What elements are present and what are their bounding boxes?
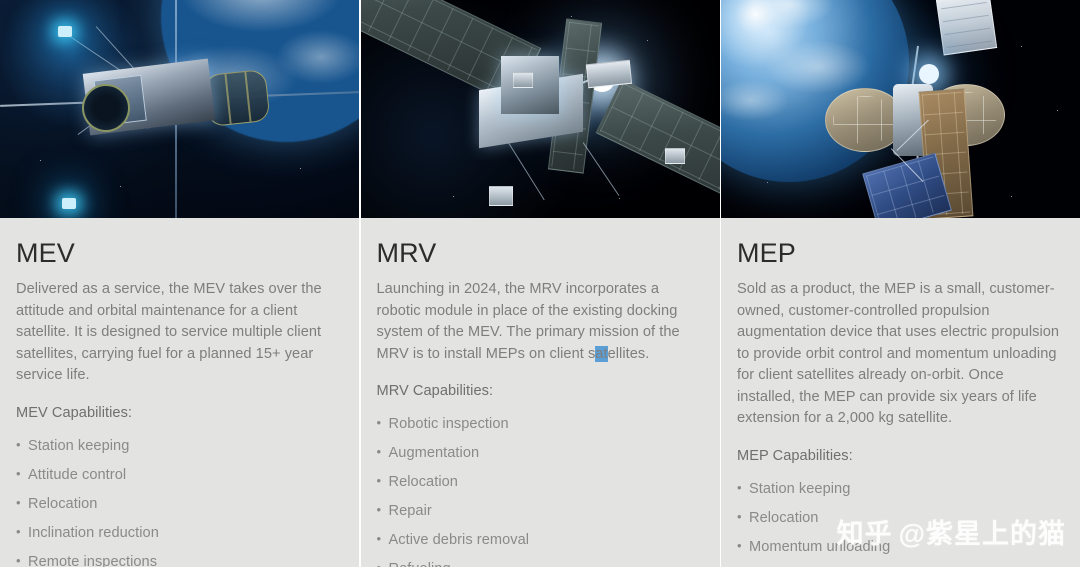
- robotic-arm-gripper-icon: [585, 60, 631, 88]
- product-description: Sold as a product, the MEP is a small, c…: [737, 279, 1064, 430]
- product-card-mev: MEV Delivered as a service, the MEV take…: [0, 0, 359, 567]
- list-item: Relocation: [737, 508, 1064, 528]
- text-selection-highlight[interactable]: at: [595, 346, 607, 362]
- list-item: Repair: [377, 501, 704, 521]
- product-text-mev: MEV Delivered as a service, the MEV take…: [0, 218, 359, 567]
- product-description: Launching in 2024, the MRV incorporates …: [377, 279, 704, 365]
- capabilities-heading: MRV Capabilities:: [377, 381, 704, 402]
- list-item: Inclination reduction: [16, 523, 343, 543]
- product-card-mep: MEP Sold as a product, the MEP is a smal…: [721, 0, 1080, 567]
- instrument-box: [665, 148, 685, 164]
- list-item: Attitude control: [16, 465, 343, 485]
- list-item: Relocation: [16, 494, 343, 514]
- capabilities-list: Station keeping Attitude control Relocat…: [16, 436, 343, 567]
- product-text-mep: MEP Sold as a product, the MEP is a smal…: [721, 218, 1080, 567]
- description-text: Sold as a product, the MEP is a small, c…: [737, 281, 1059, 426]
- list-item: Augmentation: [377, 443, 704, 463]
- product-comparison-page: MEV Delivered as a service, the MEV take…: [0, 0, 1080, 567]
- page-title: MRV: [377, 238, 704, 268]
- radiator-panel: [935, 0, 997, 55]
- list-item: Robotic inspection: [377, 414, 704, 434]
- list-item: Refueling: [377, 559, 704, 567]
- product-description: Delivered as a service, the MEV takes ov…: [16, 279, 343, 387]
- thruster-glow: [62, 198, 76, 209]
- thruster-glow: [58, 26, 72, 37]
- description-text: Delivered as a service, the MEV takes ov…: [16, 281, 322, 383]
- capabilities-list: Station keeping Relocation Momentum unlo…: [737, 479, 1064, 557]
- thruster-glow: [919, 64, 939, 84]
- product-card-mrv: MRV Launching in 2024, the MRV incorpora…: [361, 0, 720, 567]
- list-item: Relocation: [377, 472, 704, 492]
- product-image-mep: [721, 0, 1080, 218]
- capabilities-heading: MEV Capabilities:: [16, 403, 343, 424]
- description-text: ellites.: [608, 346, 650, 362]
- list-item: Station keeping: [737, 479, 1064, 499]
- list-item: Momentum unloading: [737, 537, 1064, 557]
- page-title: MEP: [737, 238, 1064, 268]
- instrument-box: [489, 186, 513, 206]
- list-item: Remote inspections: [16, 552, 343, 567]
- page-title: MEV: [16, 238, 343, 268]
- instrument-box: [513, 72, 533, 88]
- product-image-mrv: [361, 0, 720, 218]
- capabilities-list: Robotic inspection Augmentation Relocati…: [377, 414, 704, 567]
- product-image-mev: [0, 0, 359, 218]
- capabilities-heading: MEP Capabilities:: [737, 446, 1064, 467]
- list-item: Station keeping: [16, 436, 343, 456]
- product-text-mrv: MRV Launching in 2024, the MRV incorpora…: [361, 218, 720, 567]
- list-item: Active debris removal: [377, 530, 704, 550]
